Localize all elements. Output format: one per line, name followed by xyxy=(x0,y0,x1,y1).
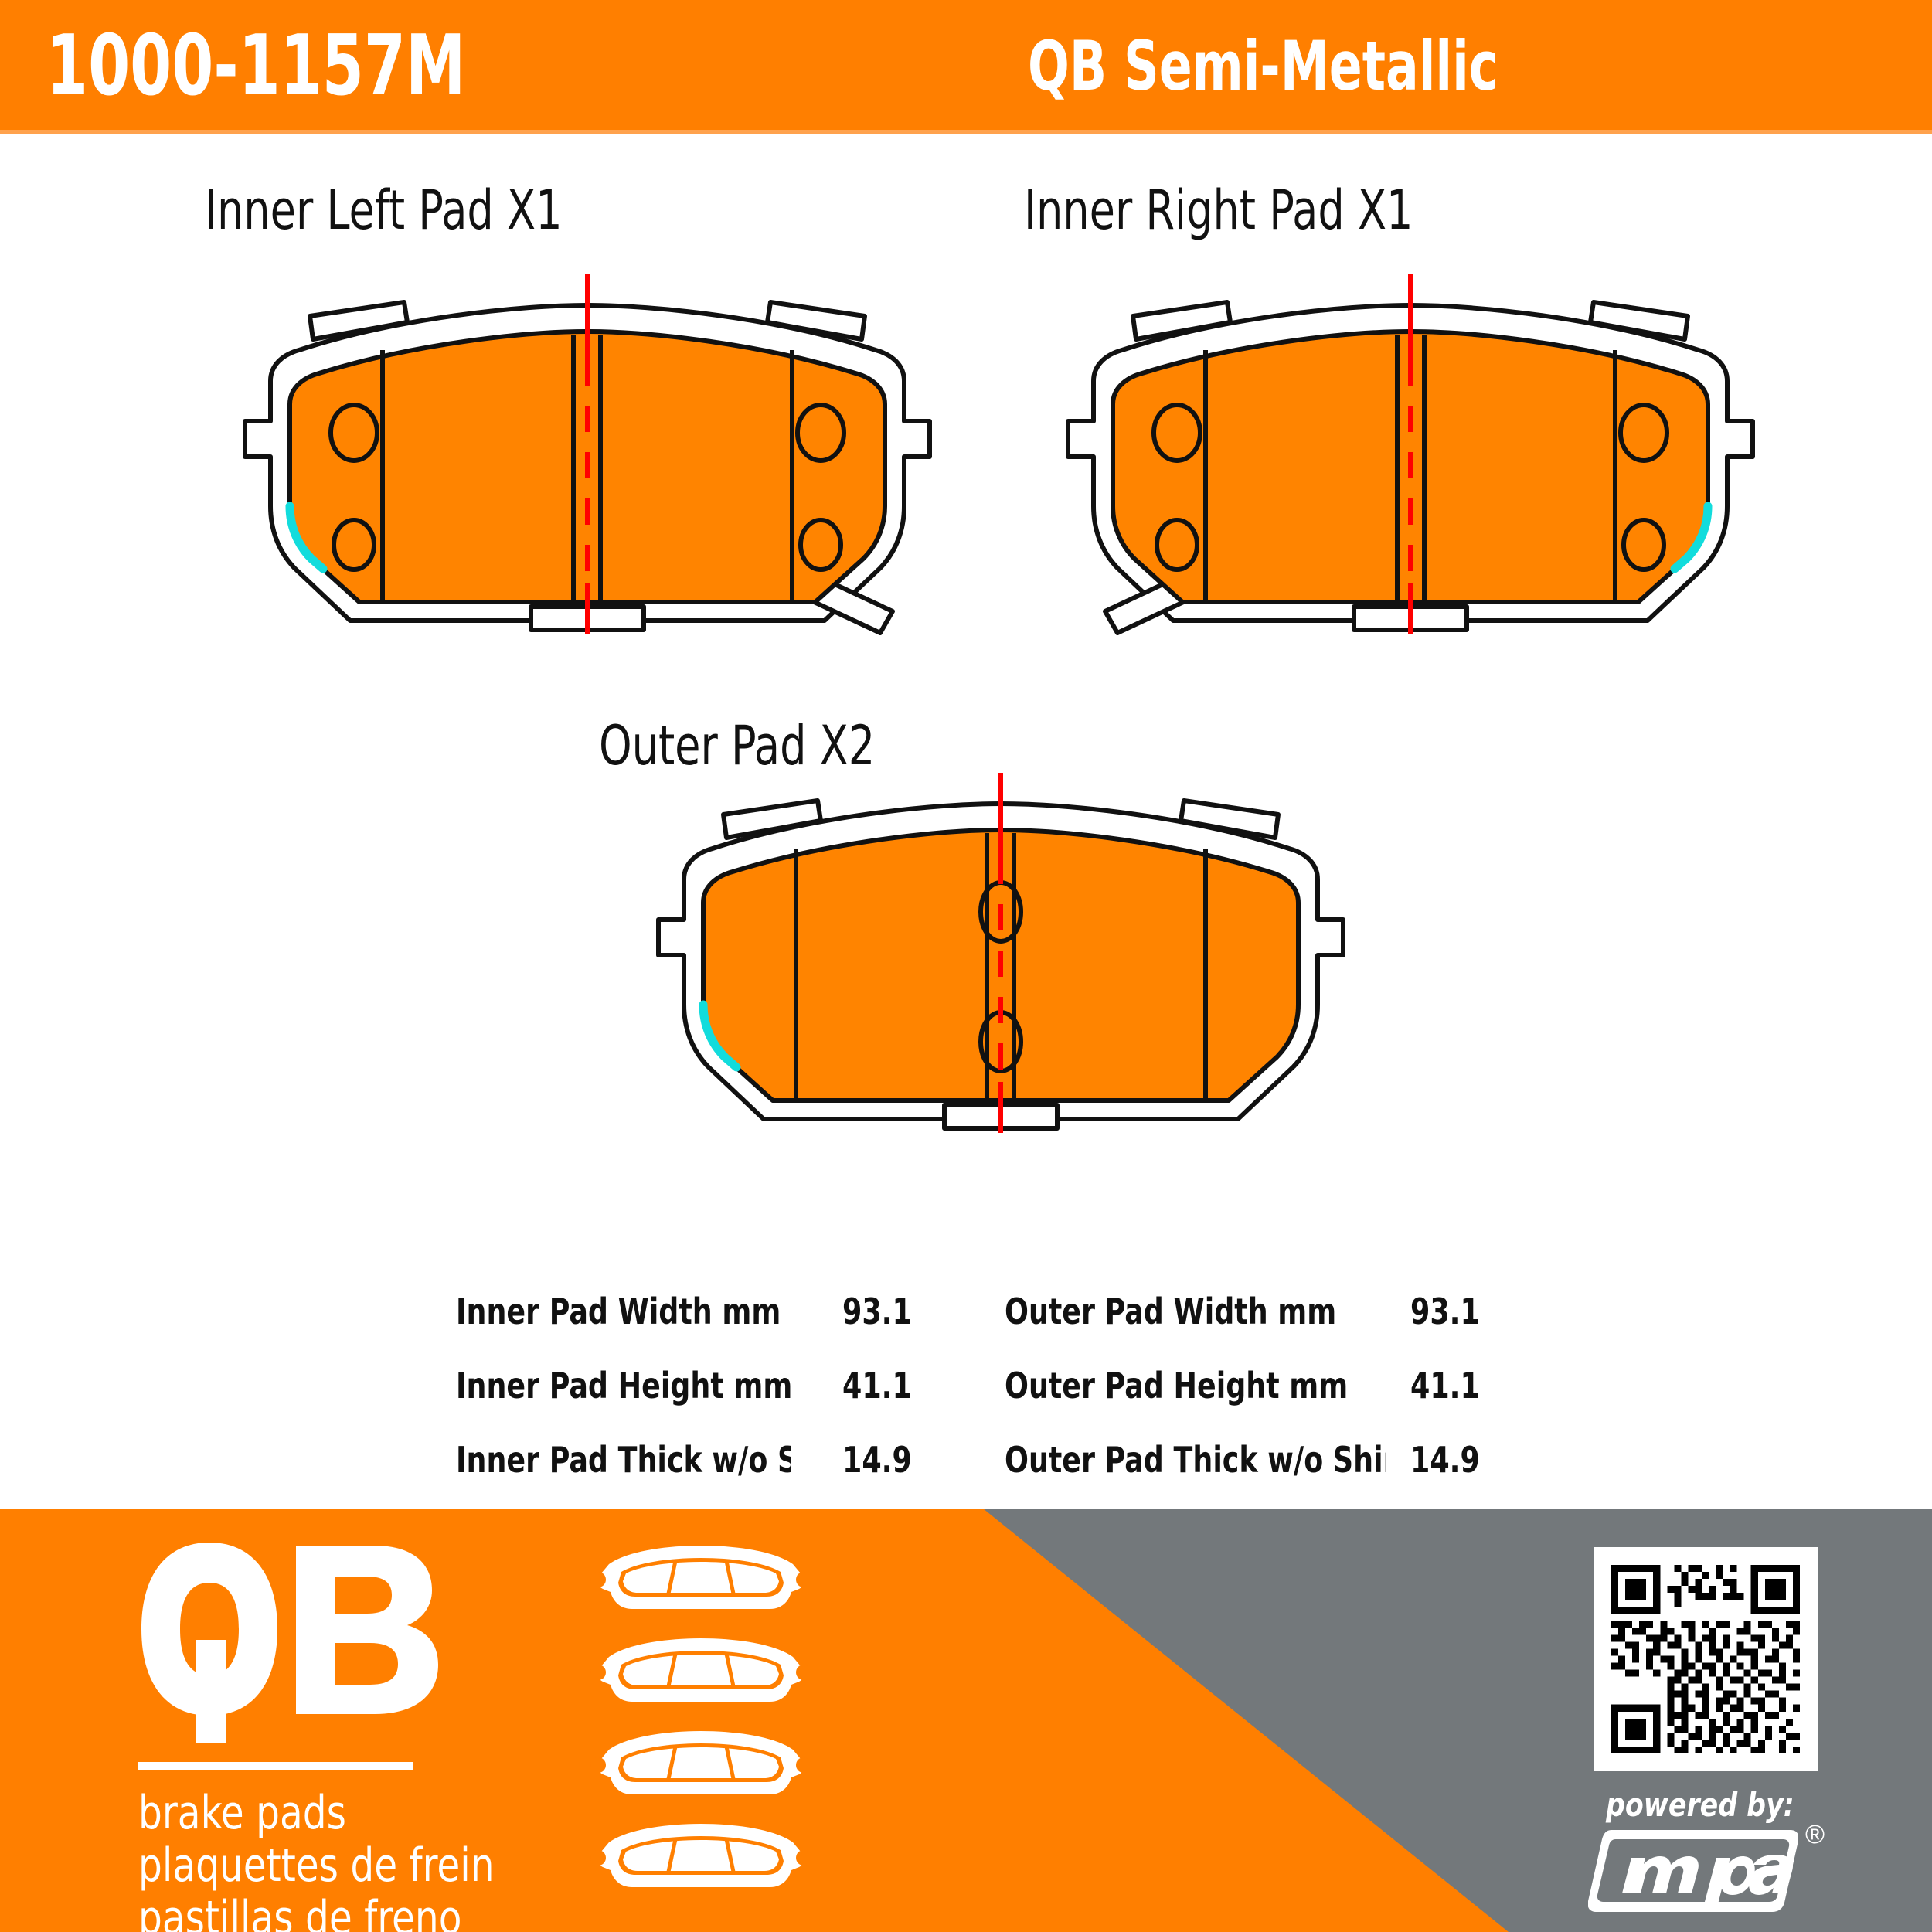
spec-value-inner: 14.9 xyxy=(842,1437,978,1484)
header-bottom-edge xyxy=(0,130,1932,134)
spec-label-outer: Outer Pad Thick w/o Shim mm xyxy=(1005,1437,1386,1484)
spec-value-outer: 93.1 xyxy=(1410,1289,1546,1335)
qb-tagline-es: pastillas de freno xyxy=(138,1892,461,1932)
spec-value-outer: 14.9 xyxy=(1410,1437,1546,1484)
brake-pad-diagram-inner-right xyxy=(1020,274,1801,638)
registered-trademark-icon: ® xyxy=(1805,1821,1825,1849)
table-row: Inner Pad Thick w/o Shim mm 14.9 Outer P… xyxy=(0,1437,1932,1492)
spec-label-inner: Inner Pad Height mm xyxy=(456,1363,791,1410)
qb-divider-rule xyxy=(138,1762,413,1770)
specification-table: Inner Pad Width mm 93.1 Outer Pad Width … xyxy=(0,1289,1932,1490)
powered-by-label: powered by: xyxy=(1606,1787,1794,1824)
figure-label-inner-left: Inner Left Pad X1 xyxy=(205,179,563,241)
figure-label-outer: Outer Pad X2 xyxy=(599,715,875,777)
spec-label-outer: Outer Pad Height mm xyxy=(1005,1363,1386,1410)
brake-pad-stack-icon xyxy=(581,1538,821,1910)
brake-pad-diagram-outer xyxy=(611,773,1391,1136)
product-line-title: QB Semi-Metallic xyxy=(1028,28,1498,105)
qb-logo-icon xyxy=(135,1539,444,1747)
spec-value-outer: 41.1 xyxy=(1410,1363,1546,1410)
spec-label-inner: Inner Pad Width mm xyxy=(456,1289,791,1335)
spec-value-inner: 41.1 xyxy=(842,1363,978,1410)
header-bar: 1000-1157M QB Semi-Metallic xyxy=(0,0,1932,133)
brake-pad-diagram-inner-left xyxy=(197,274,978,638)
footer-bar: brake pads plaquettes de frein pastillas… xyxy=(0,1509,1932,1932)
product-spec-sheet: 1000-1157M QB Semi-Metallic Inner Left P… xyxy=(0,0,1932,1932)
spec-label-outer: Outer Pad Width mm xyxy=(1005,1289,1386,1335)
part-number: 1000-1157M xyxy=(46,20,465,113)
qb-tagline-fr: plaquettes de frein xyxy=(138,1839,495,1892)
qb-brand-lockup: brake pads plaquettes de frein pastillas… xyxy=(135,1539,506,1903)
qr-code[interactable] xyxy=(1594,1547,1818,1771)
table-row: Inner Pad Width mm 93.1 Outer Pad Width … xyxy=(0,1289,1932,1343)
spec-label-inner: Inner Pad Thick w/o Shim mm xyxy=(456,1437,791,1484)
figure-label-inner-right: Inner Right Pad X1 xyxy=(1024,179,1413,241)
mpa-logo-icon xyxy=(1588,1827,1798,1913)
spec-value-inner: 93.1 xyxy=(842,1289,978,1335)
qb-tagline-en: brake pads xyxy=(138,1787,346,1839)
table-row: Inner Pad Height mm 41.1 Outer Pad Heigh… xyxy=(0,1363,1932,1417)
